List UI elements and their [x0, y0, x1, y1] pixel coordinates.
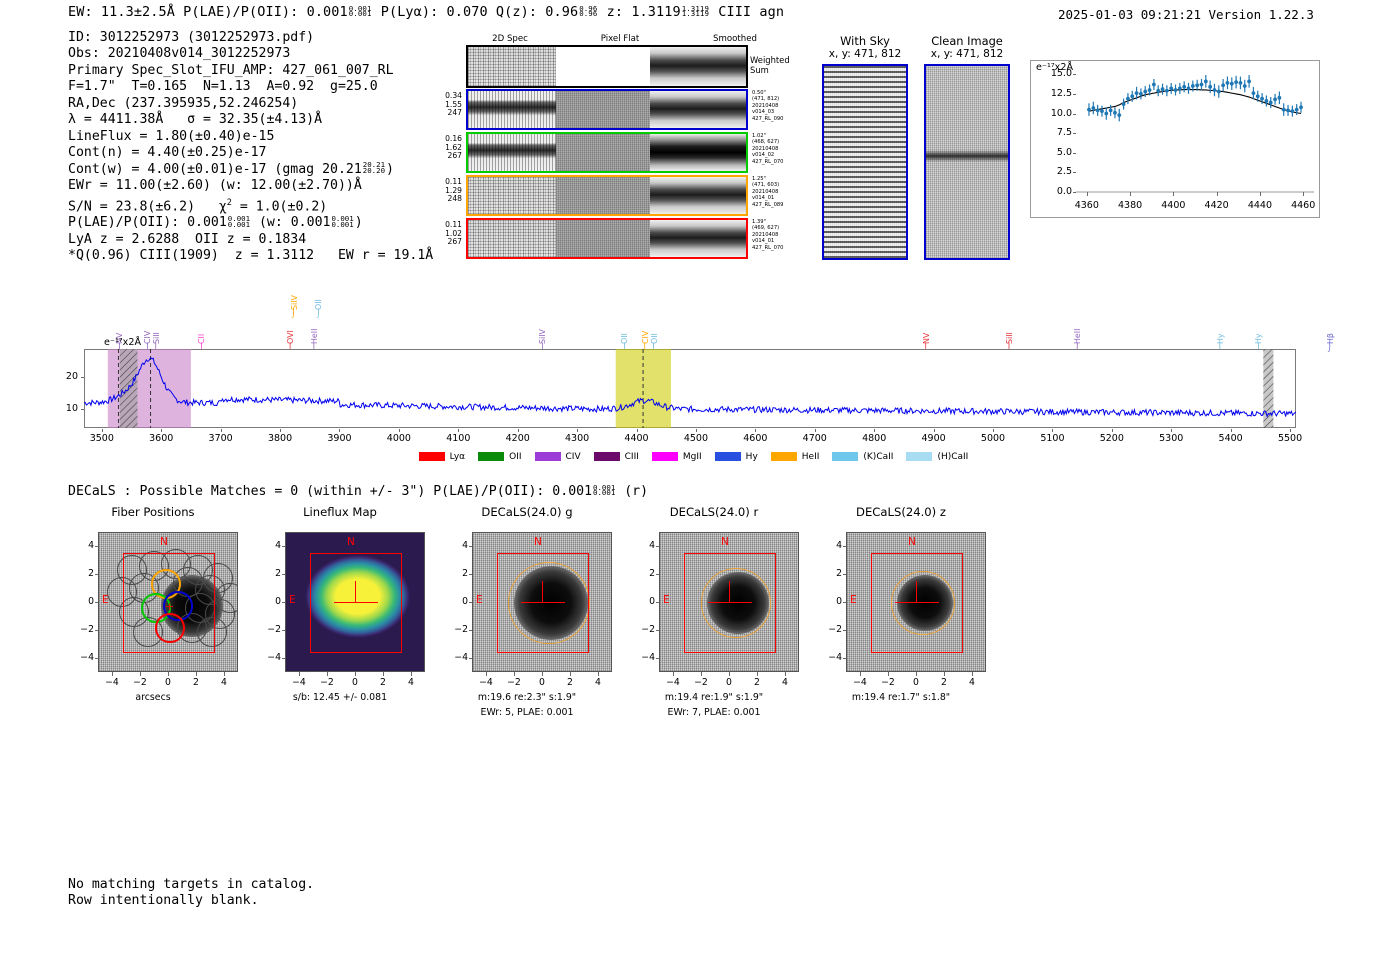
info-q-line: *Q(0.96) CIII(1909) z = 1.3112 EW r = 19…	[68, 248, 433, 264]
line-label-hy-15: Hy	[1217, 310, 1225, 344]
lp-ytick-mark-10.0	[1073, 114, 1077, 115]
cutout-3-ytick-2: 0	[635, 596, 655, 607]
cutout-4-ytick-3: −2	[822, 624, 842, 635]
info-ewr: EWr = 11.00(±2.60) (w: 12.00(±2.70))Å	[68, 178, 433, 194]
legend-item-ciii: CIII	[594, 452, 639, 462]
fiber-row-2-right-labels: 1.25"(471, 603) 20210408v014_01 427_RL_0…	[752, 176, 784, 208]
spec-xtick-mark-5300	[1171, 429, 1172, 433]
cutout-0-ytick-mark-2	[95, 602, 99, 603]
info-lambda-sigma: λ = 4411.38Å σ = 32.35(±4.13)Å	[68, 112, 433, 128]
info-lineflux: LineFlux = 1.80(±0.40)e-15	[68, 129, 433, 145]
fiber-row-0-smoothed-image	[650, 91, 746, 128]
with-sky-title: With Sky	[822, 34, 908, 48]
plae-errorbounds: 0.0010.001	[349, 6, 372, 18]
lp-xtick-4360: 4360	[1069, 200, 1105, 211]
spec-xtick-mark-4900	[934, 429, 935, 433]
spec-xtick-4300: 4300	[555, 433, 599, 444]
cutout-0-xtick-1: −2	[128, 677, 152, 688]
legend-swatch-(h)caii	[906, 452, 932, 461]
header-ew-plae: EW: 11.3±2.5Å P(LAE)/P(OII): 0.001	[68, 4, 348, 20]
cutout-1-xtick-mark-3	[383, 672, 384, 676]
cutout-caption1-2: m:19.6 re:2.3" s:1.9"	[436, 692, 618, 703]
cutout-title-1: Lineflux Map	[255, 505, 425, 519]
lp-xtick-4420: 4420	[1199, 200, 1235, 211]
cutout-1-ytick-3: −2	[261, 624, 281, 635]
cutout-2-xtick-4: 4	[586, 677, 610, 688]
cutout-1-xtick-mark-0	[299, 672, 300, 676]
legend-item-(h)caii: (H)CaII	[906, 452, 968, 462]
lp-ytick-10.0: 10.0	[1040, 108, 1072, 119]
spec-xtick-3600: 3600	[139, 433, 183, 444]
cutout-title-0: Fiber Positions	[68, 505, 238, 519]
info-redshifts: LyA z = 2.6288 OII z = 0.1834	[68, 232, 433, 248]
lp-xtick-mark-4400	[1173, 192, 1174, 196]
cutout-4-xtick-mark-0	[860, 672, 861, 676]
spec-xtick-mark-3700	[221, 429, 222, 433]
spec-xtick-4800: 4800	[852, 433, 896, 444]
legend-swatch-heii	[771, 452, 797, 461]
cutout-2-xtick-2: 0	[530, 677, 554, 688]
cutout-3-ytick-3: −2	[635, 624, 655, 635]
cutout-0-ytick-3: −2	[74, 624, 94, 635]
line-label-siii-13: SiII	[1006, 310, 1014, 344]
legend-item-oii: OII	[478, 452, 521, 462]
cutout-3-xtick-3: 2	[745, 677, 769, 688]
target-marker: +	[165, 601, 174, 612]
compass-e-3: E	[663, 594, 670, 606]
footer-note: No matching targets in catalog. Row inte…	[68, 877, 314, 910]
info-obs: Obs: 20210408v014_3012252973	[68, 46, 433, 62]
cutout-4-ytick-mark-4	[843, 658, 847, 659]
fiber-row-1-left-labels: 0.161.62267	[430, 135, 462, 161]
cutout-1-ytick-mark-4	[282, 658, 286, 659]
cutout-1-xtick-mark-1	[327, 672, 328, 676]
crosshair-v-4	[916, 581, 917, 603]
line-bracket-7: ⌡	[316, 309, 320, 318]
lp-xtick-4440: 4440	[1242, 200, 1278, 211]
line-label-hβ-17: Hβ	[1327, 310, 1335, 344]
cutout-1-ytick-2: 0	[261, 596, 281, 607]
fiber-row-2	[466, 175, 748, 216]
cutout-4-ytick-1: 2	[822, 568, 842, 579]
weighted-sum-smoothed-image	[650, 47, 746, 86]
spec-xtick-mark-5200	[1112, 429, 1113, 433]
lp-ytick-mark-0.0	[1073, 192, 1077, 193]
with-sky-image-frame	[822, 64, 908, 260]
legend-swatch-lyα	[419, 452, 445, 461]
cutout-image-4	[846, 532, 986, 672]
cutout-2-ytick-1: 2	[448, 568, 468, 579]
legend-swatch-mgii	[652, 452, 678, 461]
spec-xtick-mark-4400	[637, 429, 638, 433]
line-label-cii-3: CII	[198, 310, 206, 344]
compass-e-4: E	[850, 594, 857, 606]
cutout-0-ytick-mark-1	[95, 574, 99, 575]
lp-xtick-mark-4420	[1217, 192, 1218, 196]
spec-xtick-3700: 3700	[199, 433, 243, 444]
cutout-1-xtick-4: 4	[399, 677, 423, 688]
cutout-1-ytick-0: 4	[261, 540, 281, 551]
with-sky-coords: x, y: 471, 812	[822, 48, 908, 60]
lp-xtick-4380: 4380	[1112, 200, 1148, 211]
legend-label-mgii: MgII	[683, 452, 702, 462]
weighted-sum-2dspec-image	[468, 47, 556, 86]
cutout-1-ytick-4: −4	[261, 652, 281, 663]
fiber-row-1	[466, 132, 748, 173]
cutout-3-xtick-4: 4	[773, 677, 797, 688]
info-cont-n: Cont(n) = 4.40(±0.25)e-17	[68, 145, 433, 161]
legend-item-mgii: MgII	[652, 452, 702, 462]
spec-ytick-mark-20	[81, 377, 85, 378]
cutout-3-xtick-0: −4	[661, 677, 685, 688]
cutout-1-ytick-mark-2	[282, 602, 286, 603]
spec-xtick-mark-3800	[280, 429, 281, 433]
cutout-0-ytick-4: −4	[74, 652, 94, 663]
cutout-0-xtick-mark-0	[112, 672, 113, 676]
spec-xtick-3500: 3500	[80, 433, 124, 444]
cutout-4-xtick-2: 0	[904, 677, 928, 688]
info-primary-spec: Primary Spec_Slot_IFU_AMP: 427_061_007_R…	[68, 63, 433, 79]
cutout-4-xtick-mark-1	[888, 672, 889, 676]
cutout-3-xtick-mark-4	[785, 672, 786, 676]
legend-swatch-civ	[535, 452, 561, 461]
lp-ytick-mark-2.5	[1073, 172, 1077, 173]
cutout-3-xtick-mark-1	[701, 672, 702, 676]
spec-xtick-4600: 4600	[733, 433, 777, 444]
compass-e-2: E	[476, 594, 483, 606]
legend-label-hy: Hy	[746, 452, 758, 462]
spec-xtick-4200: 4200	[496, 433, 540, 444]
cutout-2-xtick-mark-0	[486, 672, 487, 676]
cutout-2-ytick-4: −4	[448, 652, 468, 663]
crosshair-v-3	[729, 581, 730, 603]
lp-xtick-mark-4380	[1130, 192, 1131, 196]
weighted-sum-row	[466, 45, 748, 88]
cutout-4-xtick-mark-3	[944, 672, 945, 676]
header-z: z: 1.3119	[607, 4, 681, 20]
spec-xtick-5200: 5200	[1090, 433, 1134, 444]
cutout-0-ytick-mark-4	[95, 658, 99, 659]
cutout-3-ytick-mark-3	[656, 630, 660, 631]
z-errorbounds: 1.31191.3119	[682, 6, 709, 18]
fiber-row-3-2dspec-image	[468, 220, 556, 257]
spec-xtick-4400: 4400	[615, 433, 659, 444]
cutout-3-ytick-4: −4	[635, 652, 655, 663]
cutout-3-ytick-mark-1	[656, 574, 660, 575]
cutout-4-xtick-mark-4	[972, 672, 973, 676]
compass-n-0: N	[160, 536, 168, 548]
legend-swatch-(k)caii	[832, 452, 858, 461]
lp-ytick-2.5: 2.5	[1040, 166, 1072, 177]
spec-xtick-mark-5100	[1052, 429, 1053, 433]
lp-xtick-mark-4360	[1087, 192, 1088, 196]
spec-xtick-mark-5500	[1290, 429, 1291, 433]
cutout-2-xtick-mark-3	[570, 672, 571, 676]
legend-swatch-hy	[715, 452, 741, 461]
cutout-3-ytick-mark-4	[656, 658, 660, 659]
cutout-2-ytick-mark-3	[469, 630, 473, 631]
line-bracket-5: ⌡	[292, 309, 296, 318]
cutout-2-xtick-mark-2	[542, 672, 543, 676]
compass-n-2: N	[534, 536, 542, 548]
line-label-siii-2: SiII	[153, 310, 161, 344]
line-label-hy-16: Hy	[1255, 310, 1263, 344]
cutout-4-xtick-1: −2	[876, 677, 900, 688]
spec-xtick-mark-4000	[399, 429, 400, 433]
info-plae: P(LAE)/P(OII): 0.0010.0010.001 (w: 0.001…	[68, 215, 433, 231]
cutout-0-ytick-mark-0	[95, 546, 99, 547]
legend-item-heii: HeII	[771, 452, 820, 462]
spec-xtick-4500: 4500	[674, 433, 718, 444]
spec-xtick-5000: 5000	[971, 433, 1015, 444]
cutout-1-xtick-1: −2	[315, 677, 339, 688]
cutout-image-2	[472, 532, 612, 672]
spec-xtick-3900: 3900	[317, 433, 361, 444]
fiber-row-0-2dspec-image	[468, 91, 556, 128]
cutout-1-xtick-0: −4	[287, 677, 311, 688]
cutout-0-ytick-2: 0	[74, 596, 94, 607]
cutout-caption1-1: s/b: 12.45 +/- 0.081	[249, 692, 431, 703]
legend-label-ciii: CIII	[625, 452, 639, 462]
line-label-civ-10: CIV	[642, 310, 650, 344]
cutout-4-ytick-0: 4	[822, 540, 842, 551]
info-plae-w-errorbounds: 0.0010.001	[331, 216, 353, 228]
spec-xtick-mark-4300	[577, 429, 578, 433]
cutout-2-ytick-mark-2	[469, 602, 473, 603]
cutout-3-xtick-mark-3	[757, 672, 758, 676]
cutout-2-xtick-1: −2	[502, 677, 526, 688]
fiber-row-1-right-labels: 1.02"(468, 627) 20210408v014_02 427_RL_0…	[752, 133, 784, 165]
fiber-row-2-left-labels: 0.111.29248	[430, 178, 462, 204]
cutout-2-ytick-mark-1	[469, 574, 473, 575]
spec-xtick-mark-4200	[518, 429, 519, 433]
info-snr-chi2: S/N = 23.8(±6.2) χ2 = 1.0(±0.2)	[68, 195, 433, 216]
clean-image-trace	[926, 150, 1008, 162]
spec-xtick-mark-4100	[458, 429, 459, 433]
spec-xtick-4100: 4100	[436, 433, 480, 444]
cutout-image-3	[659, 532, 799, 672]
lp-xtick-4400: 4400	[1155, 200, 1191, 211]
cutout-3-ytick-mark-0	[656, 546, 660, 547]
col-title-pixelflat: Pixel Flat	[570, 34, 670, 44]
cutout-2-ytick-mark-4	[469, 658, 473, 659]
cutout-panel-row: Fiber Positions+NE420−2−4−4−2024arcsecsL…	[0, 505, 1400, 740]
clean-image-frame	[924, 64, 1010, 260]
info-seeing: F=1.7" T=0.165 N=1.13 A=0.92 g=25.0	[68, 79, 433, 95]
compass-e-1: E	[289, 594, 296, 606]
cutout-1-ytick-1: 2	[261, 568, 281, 579]
crosshair-v-1	[355, 581, 356, 603]
lp-xtick-4460: 4460	[1285, 200, 1321, 211]
lp-ytick-15.0: 15.0	[1040, 68, 1072, 79]
line-label-oii-9: OII	[621, 310, 629, 344]
source-info-block: ID: 3012252973 (3012252973.pdf) Obs: 202…	[68, 30, 433, 265]
lp-xtick-mark-4440	[1260, 192, 1261, 196]
lp-ytick-12.5: 12.5	[1040, 88, 1072, 99]
spec-xtick-mark-4600	[755, 429, 756, 433]
spec-xtick-5100: 5100	[1030, 433, 1074, 444]
cutout-0-xtick-3: 2	[184, 677, 208, 688]
crosshair-v-2	[542, 581, 543, 603]
lp-xtick-mark-4460	[1303, 192, 1304, 196]
fiber-row-2-2dspec-image	[468, 177, 556, 214]
lp-ytick-mark-7.5	[1073, 133, 1077, 134]
cutout-1-xtick-mark-4	[411, 672, 412, 676]
line-label-nv-12: NV	[923, 310, 931, 344]
fiber-row-0-right-labels: 0.50"(471, 812) 20210408v014_03 427_RL_0…	[752, 90, 784, 122]
compass-n-1: N	[347, 536, 355, 548]
spec-xtick-mark-4800	[874, 429, 875, 433]
cutout-0-xtick-mark-3	[196, 672, 197, 676]
fiber-row-0	[466, 89, 748, 130]
cutout-0-ytick-1: 2	[74, 568, 94, 579]
cutout-3-ytick-1: 2	[635, 568, 655, 579]
line-label-oii-7: OII	[315, 276, 323, 310]
legend-label-oii: OII	[509, 452, 521, 462]
cutout-3-xtick-mark-2	[729, 672, 730, 676]
cutout-1-xtick-2: 0	[343, 677, 367, 688]
weighted-sum-label: WeightedSum	[750, 56, 790, 75]
legend-swatch-ciii	[594, 452, 620, 461]
legend-item-(k)caii: (K)CaII	[832, 452, 893, 462]
lp-ytick-mark-12.5	[1073, 94, 1077, 95]
cutout-0-xtick-mark-2	[168, 672, 169, 676]
clean-image-image	[926, 66, 1008, 258]
cutout-image-0: +	[98, 532, 238, 672]
col-title-smoothed: Smoothed	[685, 34, 785, 44]
spec-xtick-4900: 4900	[912, 433, 956, 444]
cutout-4-ytick-mark-2	[843, 602, 847, 603]
qz-errorbounds: 0.960.96	[579, 6, 597, 18]
cutout-image-1	[285, 532, 425, 672]
lp-ytick-mark-5.0	[1073, 153, 1077, 154]
spec-xtick-5500: 5500	[1268, 433, 1312, 444]
cutout-0-xtick-0: −4	[100, 677, 124, 688]
line-label-oii-11: OII	[651, 310, 659, 344]
fiber-row-1-2dspec-image	[468, 134, 556, 171]
cutout-2-xtick-3: 2	[558, 677, 582, 688]
cutout-3-ytick-0: 4	[635, 540, 655, 551]
cutout-2-xtick-0: −4	[474, 677, 498, 688]
gmag-errorbounds: 20.2120.20	[363, 162, 385, 174]
spec-xtick-mark-5400	[1231, 429, 1232, 433]
cutout-2-ytick-mark-0	[469, 546, 473, 547]
full-spectrum-svg	[84, 349, 1296, 428]
cutout-0-xtick-4: 4	[212, 677, 236, 688]
compass-e-0: E	[102, 594, 109, 606]
full-spectrum-annotation: e⁻¹⁷x2Å	[104, 337, 141, 348]
cutout-1-ytick-mark-0	[282, 546, 286, 547]
cutout-4-ytick-mark-3	[843, 630, 847, 631]
legend-label-(k)caii: (K)CaII	[863, 452, 893, 462]
cutout-2-ytick-2: 0	[448, 596, 468, 607]
spec-xtick-3800: 3800	[258, 433, 302, 444]
spectrum-legend: LyαOIICIVCIIIMgIIHyHeII(K)CaII(H)CaII	[0, 446, 1400, 465]
spec-xtick-mark-3900	[339, 429, 340, 433]
lp-ytick-mark-15.0	[1073, 74, 1077, 75]
spec-xtick-4000: 4000	[377, 433, 421, 444]
line-label-heii-14: HeII	[1074, 310, 1082, 344]
cutout-caption2-2: EWr: 5, PLAE: 0.001	[436, 707, 618, 718]
spectrum-line-labels: NV⌡CIV⌡SiII⌡CII⌡OVI⌡SiIV⌡HeII⌡OII⌡SiIV⌡O…	[84, 276, 1296, 348]
spec-ytick-20: 20	[50, 371, 78, 382]
spec-xtick-5400: 5400	[1209, 433, 1253, 444]
header-plya-qz: P(Lyα): 0.070 Q(z): 0.96	[381, 4, 578, 20]
cutout-4-ytick-mark-1	[843, 574, 847, 575]
spec-xtick-mark-3500	[102, 429, 103, 433]
fiber-row-3	[466, 218, 748, 259]
line-bracket-17: ⌡	[1328, 343, 1332, 352]
spec-xtick-mark-3600	[161, 429, 162, 433]
clean-image-title: Clean Image	[924, 34, 1010, 48]
legend-item-lyα: Lyα	[419, 452, 465, 462]
fiber-row-3-left-labels: 0.111.02267	[430, 221, 462, 247]
legend-swatch-oii	[478, 452, 504, 461]
info-plae-errorbounds: 0.0010.001	[228, 216, 250, 228]
legend-item-civ: CIV	[535, 452, 581, 462]
compass-n-3: N	[721, 536, 729, 548]
legend-label-(h)caii: (H)CaII	[937, 452, 968, 462]
fiber-row-0-left-labels: 0.341.55247	[430, 92, 462, 118]
fiber-row-2-pixelflat-image	[556, 177, 650, 214]
cutout-3-xtick-2: 0	[717, 677, 741, 688]
cutout-3-ytick-mark-2	[656, 602, 660, 603]
cutout-2-ytick-3: −2	[448, 624, 468, 635]
cutout-1-ytick-mark-3	[282, 630, 286, 631]
lp-ytick-7.5: 7.5	[1040, 127, 1072, 138]
legend-label-civ: CIV	[566, 452, 581, 462]
cutout-0-xtick-mark-4	[224, 672, 225, 676]
spec-xtick-mark-4500	[696, 429, 697, 433]
fiber-row-2-smoothed-image	[650, 177, 746, 214]
cutout-4-ytick-4: −4	[822, 652, 842, 663]
cutout-title-4: DECaLS(24.0) z	[816, 505, 986, 519]
cutout-caption1-0: arcsecs	[62, 692, 244, 703]
cutout-title-2: DECaLS(24.0) g	[442, 505, 612, 519]
cutout-caption1-4: m:19.4 re:1.7" s:1.8"	[810, 692, 992, 703]
cutout-3-xtick-mark-0	[673, 672, 674, 676]
compass-n-4: N	[908, 536, 916, 548]
cutout-2-xtick-mark-4	[598, 672, 599, 676]
legend-item-hy: Hy	[715, 452, 758, 462]
decals-heading: DECaLS : Possible Matches = 0 (within +/…	[68, 484, 648, 499]
cutout-4-xtick-mark-2	[916, 672, 917, 676]
clean-image-coords: x, y: 471, 812	[924, 48, 1010, 60]
lp-ytick-0.0: 0.0	[1040, 186, 1072, 197]
cutout-1-xtick-mark-2	[355, 672, 356, 676]
info-cont-w: Cont(w) = 4.00(±0.01)e-17 (gmag 20.2120.…	[68, 162, 433, 178]
cutout-0-xtick-mark-1	[140, 672, 141, 676]
cutout-2-xtick-mark-1	[514, 672, 515, 676]
spec-xtick-4700: 4700	[793, 433, 837, 444]
cutout-3-xtick-1: −2	[689, 677, 713, 688]
info-radec: RA,Dec (237.395935,52.246254)	[68, 96, 433, 112]
fiber-row-3-right-labels: 1.39"(469, 627) 20210408v014_01 427_RL_0…	[752, 219, 784, 251]
cutout-4-xtick-4: 4	[960, 677, 984, 688]
cutout-4-xtick-0: −4	[848, 677, 872, 688]
header-classification: CIII agn	[718, 4, 784, 20]
header-timestamp-version: 2025-01-03 09:21:21 Version 1.22.3	[1058, 7, 1314, 22]
cutout-0-xtick-2: 0	[156, 677, 180, 688]
spec-xtick-mark-4700	[815, 429, 816, 433]
fiber-row-3-smoothed-image	[650, 220, 746, 257]
header-summary-line: EW: 11.3±2.5Å P(LAE)/P(OII): 0.0010.0010…	[68, 4, 784, 20]
fiber-row-1-pixelflat-image	[556, 134, 650, 171]
with-sky-image	[824, 66, 906, 258]
legend-label-lyα: Lyα	[450, 452, 465, 462]
legend-label-heii: HeII	[802, 452, 820, 462]
fiber-row-0-pixelflat-image	[556, 91, 650, 128]
